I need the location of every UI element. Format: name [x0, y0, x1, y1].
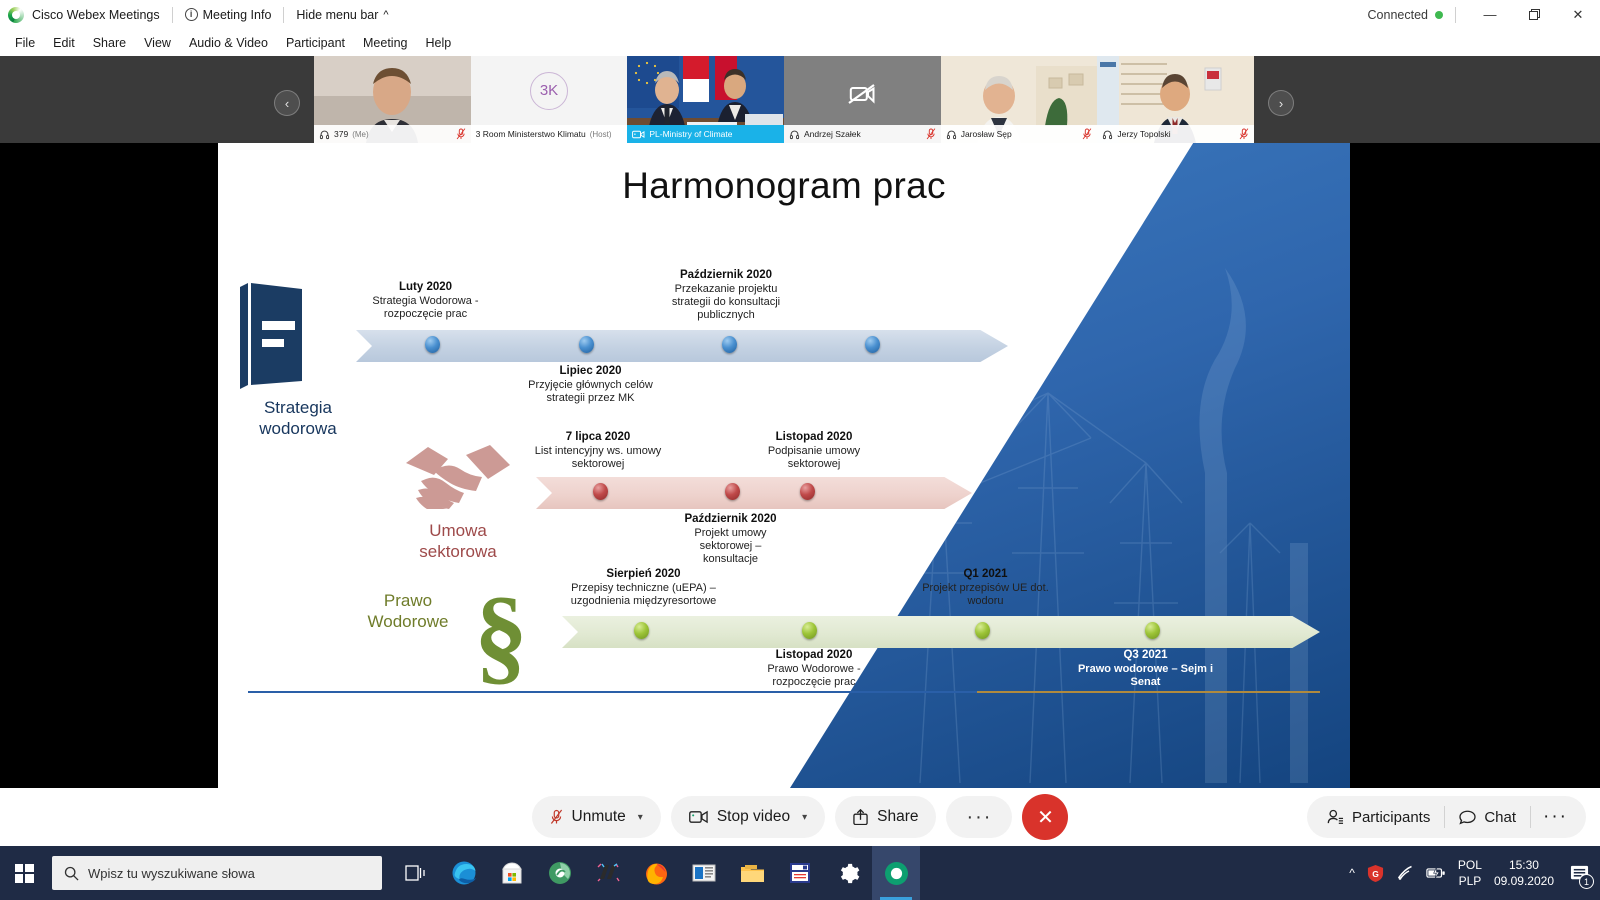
row-label-line2: Wodorowe [338, 612, 478, 633]
unmute-label: Unmute [572, 808, 626, 826]
tile-label-bar: Andrzej Szałek [784, 125, 941, 143]
milestone-date: Październik 2020 [646, 269, 806, 283]
milestone-node-7-lipca-2020 [593, 483, 608, 500]
menu-view[interactable]: View [135, 33, 180, 53]
chevron-up-icon: ^ [383, 9, 388, 21]
menu-help[interactable]: Help [416, 33, 460, 53]
chevron-down-icon[interactable]: ▾ [802, 812, 807, 823]
outlook-icon[interactable] [776, 846, 824, 900]
file-explorer-icon[interactable] [728, 846, 776, 900]
row-label-line1: Strategia [218, 398, 378, 419]
webex-logo-icon [8, 7, 24, 23]
clock-date: 09.09.2020 [1494, 873, 1554, 889]
show-hidden-icons-icon[interactable]: ^ [1349, 866, 1355, 880]
milestone-node-luty-2020 [425, 336, 440, 353]
search-icon [64, 866, 79, 881]
info-icon: i [185, 8, 198, 21]
chat-label: Chat [1484, 809, 1516, 826]
tile-label-bar: Jarosław Sęp [941, 125, 1098, 143]
filmstrip-prev-button[interactable]: ‹ [274, 90, 300, 116]
divider [172, 7, 173, 23]
milestone-node-q1-2021 [975, 622, 990, 639]
presentation-slide[interactable]: Harmonogram prac Strategia wodorowa [218, 143, 1350, 788]
chat-bubble-icon [1459, 810, 1476, 825]
task-view-icon[interactable] [392, 846, 440, 900]
milestone-node-extra [865, 336, 880, 353]
milestone-label-luty-2020: Luty 2020 Strategia Wodorowa -rozpoczęci… [343, 281, 508, 321]
mic-muted-icon [456, 128, 466, 140]
svg-text:§: § [474, 577, 528, 687]
antivirus-shield-icon[interactable]: G [1367, 864, 1384, 883]
tile-name: PL-Ministry of Climate [649, 129, 732, 139]
milestone-label-listopad-2020-prawo: Listopad 2020 Prawo Wodorowe -rozpoczęci… [738, 649, 890, 689]
menu-edit[interactable]: Edit [44, 33, 84, 53]
battery-charging-icon[interactable] [1426, 866, 1446, 880]
webex-icon[interactable] [872, 846, 920, 900]
milestone-label-7-lipca-2020: 7 lipca 2020 List intencyjny ws. umowyse… [508, 431, 688, 471]
search-placeholder: Wpisz tu wyszukiwane słowa [88, 866, 255, 881]
book-icon [232, 281, 312, 391]
video-tile-pl-ministry-of-climate[interactable]: PL-Ministry of Climate [627, 56, 784, 143]
milestone-date: Lipiec 2020 [503, 365, 678, 379]
slide-footer-rule [248, 691, 1320, 693]
milestone-text: Przyjęcie głównych celówstrategii przez … [503, 379, 678, 405]
headset-icon [789, 129, 800, 140]
milestone-date: Listopad 2020 [740, 431, 888, 445]
app-title: Cisco Webex Meetings [32, 8, 160, 22]
taskbar-search-input[interactable]: Wpisz tu wyszukiwane słowa [52, 856, 382, 890]
more-options-button[interactable]: ··· [946, 796, 1012, 838]
stop-video-button[interactable]: Stop video ▾ [671, 796, 825, 838]
timeline-arrow-prawo [562, 616, 1320, 648]
close-button[interactable]: ✕ [1556, 0, 1600, 29]
tile-name: Andrzej Szałek [804, 129, 861, 139]
lang-bottom: PLP [1458, 873, 1482, 889]
row-label-line1: Prawo [338, 591, 478, 612]
camera-off-icon [849, 85, 874, 103]
video-tile-jerzy-topolski[interactable]: Jerzy Topolski [1097, 56, 1254, 143]
milestone-date: Luty 2020 [343, 281, 508, 295]
tile-name: Jerzy Topolski [1117, 129, 1170, 139]
chat-button[interactable]: Chat [1445, 800, 1530, 834]
system-tray: ^ G POL PLP [1349, 857, 1600, 889]
participants-button[interactable]: Participants [1313, 800, 1444, 834]
hide-menu-bar-label: Hide menu bar [296, 8, 378, 22]
row-label-line1: Umowa [383, 521, 533, 542]
menu-share[interactable]: Share [84, 33, 135, 53]
meeting-info-label: Meeting Info [203, 8, 272, 22]
headset-icon [946, 129, 957, 140]
row-label-line2: wodorowa [218, 419, 378, 440]
video-tile-3-room-ministerstwo-klimatu[interactable]: 3K 3 Room Ministerstwo Klimatu (Host) [471, 56, 628, 143]
notification-center-button[interactable]: 1 [1566, 858, 1592, 888]
shared-content-stage: Harmonogram prac Strategia wodorowa [0, 143, 1600, 788]
right-controls-group: Participants Chat ··· [1307, 796, 1586, 838]
milestone-label-pazdziernik-2020: Październik 2020 Przekazanie projektustr… [646, 269, 806, 321]
edge-icon[interactable] [440, 846, 488, 900]
milestone-date: Listopad 2020 [738, 649, 890, 663]
menu-participant[interactable]: Participant [277, 33, 354, 53]
milestone-date: Q3 2021 [1058, 649, 1233, 663]
menu-bar: File Edit Share View Audio & Video Parti… [0, 29, 1600, 56]
milestone-text: List intencyjny ws. umowysektorowej [508, 445, 688, 471]
milestone-date: Październik 2020 [658, 513, 803, 527]
wifi-icon[interactable] [1396, 865, 1414, 881]
milestone-label-listopad-2020-umowa: Listopad 2020 Podpisanie umowysektorowej [740, 431, 888, 471]
tile-name: Jarosław Sęp [961, 129, 1012, 139]
milestone-node-lipiec-2020 [579, 336, 594, 353]
video-camera-icon [689, 810, 708, 824]
tile-label-bar: 3 Room Ministerstwo Klimatu (Host) [471, 125, 628, 143]
milestone-node-listopad-2020-umowa [800, 483, 815, 500]
row-label-prawo-wodorowe: Prawo Wodorowe [338, 591, 478, 632]
chevron-down-icon[interactable]: ▾ [638, 812, 643, 823]
acrobat-icon[interactable] [536, 846, 584, 900]
firefox-icon[interactable] [632, 846, 680, 900]
tile-label-bar: PL-Ministry of Climate [627, 125, 784, 143]
windows-logo-icon [15, 864, 34, 883]
milestone-text: Strategia Wodorowa -rozpoczęcie prac [343, 295, 508, 321]
start-button[interactable] [0, 846, 48, 900]
milestone-node-pazdziernik-2020 [722, 336, 737, 353]
divider [1455, 7, 1456, 23]
unmute-button[interactable]: Unmute ▾ [532, 796, 661, 838]
milestone-label-sierpien-2020: Sierpień 2020 Przepisy techniczne (uEPA)… [546, 568, 741, 608]
divider [283, 7, 284, 23]
video-tile-379[interactable]: 379 (Me) [314, 56, 471, 143]
milestone-text: Prawo wodorowe – Sejm iSenat [1058, 663, 1233, 689]
milestone-text: Przekazanie projektustrategii do konsult… [646, 283, 806, 322]
row-label-line2: sektorowa [383, 542, 533, 563]
milestone-text: Projekt przepisów UE dot.wodoru [908, 582, 1063, 608]
hide-menu-bar-button[interactable]: Hide menu bar ^ [296, 8, 388, 22]
mic-muted-icon [550, 809, 563, 825]
share-label: Share [877, 808, 918, 826]
taskbar-clock[interactable]: 15:30 09.09.2020 [1494, 857, 1554, 889]
lang-top: POL [1458, 857, 1482, 873]
paragraph-icon: § [468, 577, 546, 687]
mic-muted-icon [926, 128, 936, 140]
row-label-strategia-wodorowa: Strategia wodorowa [218, 398, 378, 439]
meeting-control-bar: Unmute ▾ Stop video ▾ Share [0, 788, 1600, 846]
participants-icon [1327, 809, 1344, 825]
connected-label: Connected [1368, 8, 1428, 22]
notification-badge: 1 [1579, 874, 1594, 889]
share-icon [853, 809, 868, 825]
milestone-node-sierpien-2020 [634, 622, 649, 639]
milestone-node-q3-2021 [1145, 622, 1160, 639]
milestone-text: Projekt umowysektorowej –konsultacje [658, 527, 803, 566]
keyboard-language-indicator[interactable]: POL PLP [1458, 857, 1482, 889]
tile-label-bar: Jerzy Topolski [1097, 125, 1254, 143]
stop-video-label: Stop video [717, 808, 790, 826]
menu-file[interactable]: File [6, 33, 44, 53]
milestone-node-listopad-2020-prawo [802, 622, 817, 639]
milestone-text: Prawo Wodorowe -rozpoczęcie prac [738, 663, 890, 689]
headset-icon [1102, 129, 1113, 140]
hp-icon[interactable] [584, 846, 632, 900]
video-tile-jaroslaw-sep[interactable]: Jarosław Sęp [941, 56, 1098, 143]
news-icon[interactable] [680, 846, 728, 900]
milestone-label-q3-2021: Q3 2021 Prawo wodorowe – Sejm iSenat [1058, 649, 1233, 689]
settings-icon[interactable] [824, 846, 872, 900]
clock-time: 15:30 [1494, 857, 1554, 873]
end-meeting-button[interactable]: ✕ [1022, 794, 1068, 840]
restore-button[interactable] [1512, 0, 1556, 29]
tile-name: 379 [334, 129, 348, 139]
headset-icon [319, 129, 330, 140]
tile-suffix: (Me) [352, 130, 368, 139]
milestone-date: Q1 2021 [908, 568, 1063, 582]
minimize-button[interactable]: — [1468, 0, 1512, 29]
windows-taskbar: Wpisz tu wyszukiwane słowa [0, 846, 1600, 900]
handshake-icon [404, 441, 512, 509]
store-icon[interactable] [488, 846, 536, 900]
row-label-umowa-sektorowa: Umowa sektorowa [383, 521, 533, 562]
share-button[interactable]: Share [835, 796, 936, 838]
tile-suffix: (Host) [590, 130, 612, 139]
slide-title: Harmonogram prac [218, 165, 1350, 207]
participants-label: Participants [1352, 809, 1430, 826]
milestone-date: Sierpień 2020 [546, 568, 741, 582]
timeline-arrow-strategia [356, 330, 1008, 362]
restore-icon [1529, 9, 1540, 20]
tile-label-bar: 379 (Me) [314, 125, 471, 143]
video-tile-andrzej-szalek[interactable]: Andrzej Szałek [784, 56, 941, 143]
milestone-label-lipiec-2020: Lipiec 2020 Przyjęcie głównych celówstra… [503, 365, 678, 405]
connection-status: Connected [1368, 8, 1443, 22]
mic-muted-icon [1082, 128, 1092, 140]
status-dot-icon [1435, 11, 1443, 19]
milestone-date: 7 lipca 2020 [508, 431, 688, 445]
menu-audio-video[interactable]: Audio & Video [180, 33, 277, 53]
taskbar-pinned-apps [392, 846, 920, 900]
milestone-text: Przepisy techniczne (uEPA) –uzgodnienia … [546, 582, 741, 608]
tile-name: 3 Room Ministerstwo Klimatu [476, 129, 586, 139]
milestone-text: Podpisanie umowysektorowej [740, 445, 888, 471]
mic-muted-icon [1239, 128, 1249, 140]
filmstrip-next-button[interactable]: › [1268, 90, 1294, 116]
window-title-bar: Cisco Webex Meetings i Meeting Info Hide… [0, 0, 1600, 29]
milestone-node-pazdziernik-2020-umowa [725, 483, 740, 500]
meeting-info-button[interactable]: i Meeting Info [185, 8, 272, 22]
video-tiles: 379 (Me) 3K 3 Room Ministerstwo Klimatu … [314, 56, 1254, 143]
video-device-icon [632, 129, 645, 140]
right-more-button[interactable]: ··· [1531, 800, 1580, 834]
menu-meeting[interactable]: Meeting [354, 33, 416, 53]
milestone-label-q1-2021: Q1 2021 Projekt przepisów UE dot.wodoru [908, 568, 1063, 608]
milestone-label-pazdziernik-2020-umowa: Październik 2020 Projekt umowysektorowej… [658, 513, 803, 565]
avatar: 3K [530, 72, 568, 110]
svg-text:G: G [1372, 868, 1379, 878]
